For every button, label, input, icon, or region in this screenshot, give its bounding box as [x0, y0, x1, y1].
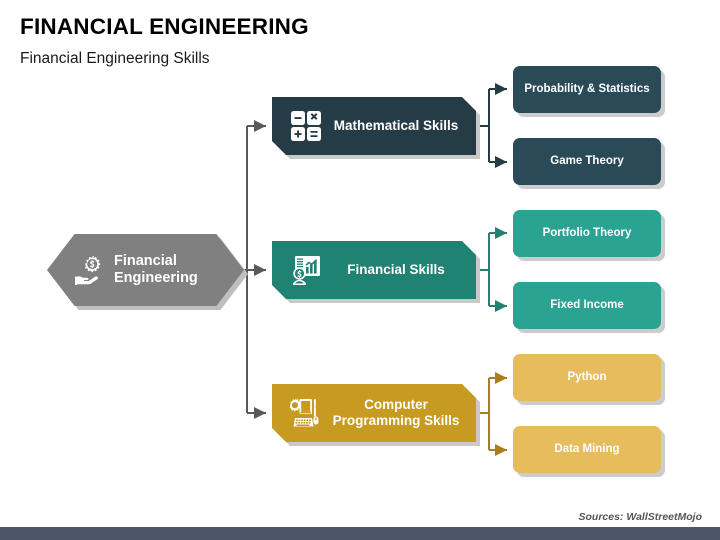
calculator-icon: [290, 110, 322, 142]
node-label: Computer Programming Skills: [322, 397, 476, 429]
node-label: Fixed Income: [544, 299, 630, 313]
node-label: Financial Engineering: [114, 253, 206, 287]
connector-finance-children: [476, 233, 507, 306]
node-body: Game Theory: [513, 138, 661, 185]
node-body: Probability & Statistics: [513, 66, 661, 113]
source-note: Sources: WallStreetMojo: [579, 511, 703, 523]
node-game-theory[interactable]: Game Theory: [513, 138, 661, 185]
computer-monitor-keyboard-icon: [290, 397, 322, 429]
node-body: Financial Engineering: [47, 234, 244, 306]
financial-chart-dollar-icon: [290, 254, 322, 286]
node-label: Portfolio Theory: [537, 227, 638, 241]
flowchart-diagram: Financial Engineering: [0, 0, 720, 540]
node-body: Fixed Income: [513, 282, 661, 329]
node-financial-engineering[interactable]: Financial Engineering: [47, 234, 244, 306]
node-mathematical-skills[interactable]: Mathematical Skills: [272, 97, 476, 155]
node-body: Financial Skills: [272, 241, 476, 299]
node-body: Portfolio Theory: [513, 210, 661, 257]
hand-holding-money-gear-icon: [75, 255, 105, 285]
node-label: Data Mining: [548, 443, 625, 457]
connector-trunk-branches: [247, 126, 266, 413]
node-body: Computer Programming Skills: [272, 384, 476, 442]
footer-bar: [0, 527, 720, 540]
node-probability-statistics[interactable]: Probability & Statistics: [513, 66, 661, 113]
node-portfolio-theory[interactable]: Portfolio Theory: [513, 210, 661, 257]
node-label: Probability & Statistics: [518, 83, 655, 97]
connector-programming-children: [476, 378, 507, 450]
node-data-mining[interactable]: Data Mining: [513, 426, 661, 473]
node-body: Mathematical Skills: [272, 97, 476, 155]
node-computer-programming-skills[interactable]: Computer Programming Skills: [272, 384, 476, 442]
node-label: Python: [562, 371, 613, 385]
node-python[interactable]: Python: [513, 354, 661, 401]
node-fixed-income[interactable]: Fixed Income: [513, 282, 661, 329]
node-body: Python: [513, 354, 661, 401]
node-label: Financial Skills: [322, 262, 476, 278]
node-label: Game Theory: [544, 155, 630, 169]
node-financial-skills[interactable]: Financial Skills: [272, 241, 476, 299]
node-body: Data Mining: [513, 426, 661, 473]
connector-math-children: [476, 89, 507, 162]
node-label: Mathematical Skills: [322, 118, 476, 134]
